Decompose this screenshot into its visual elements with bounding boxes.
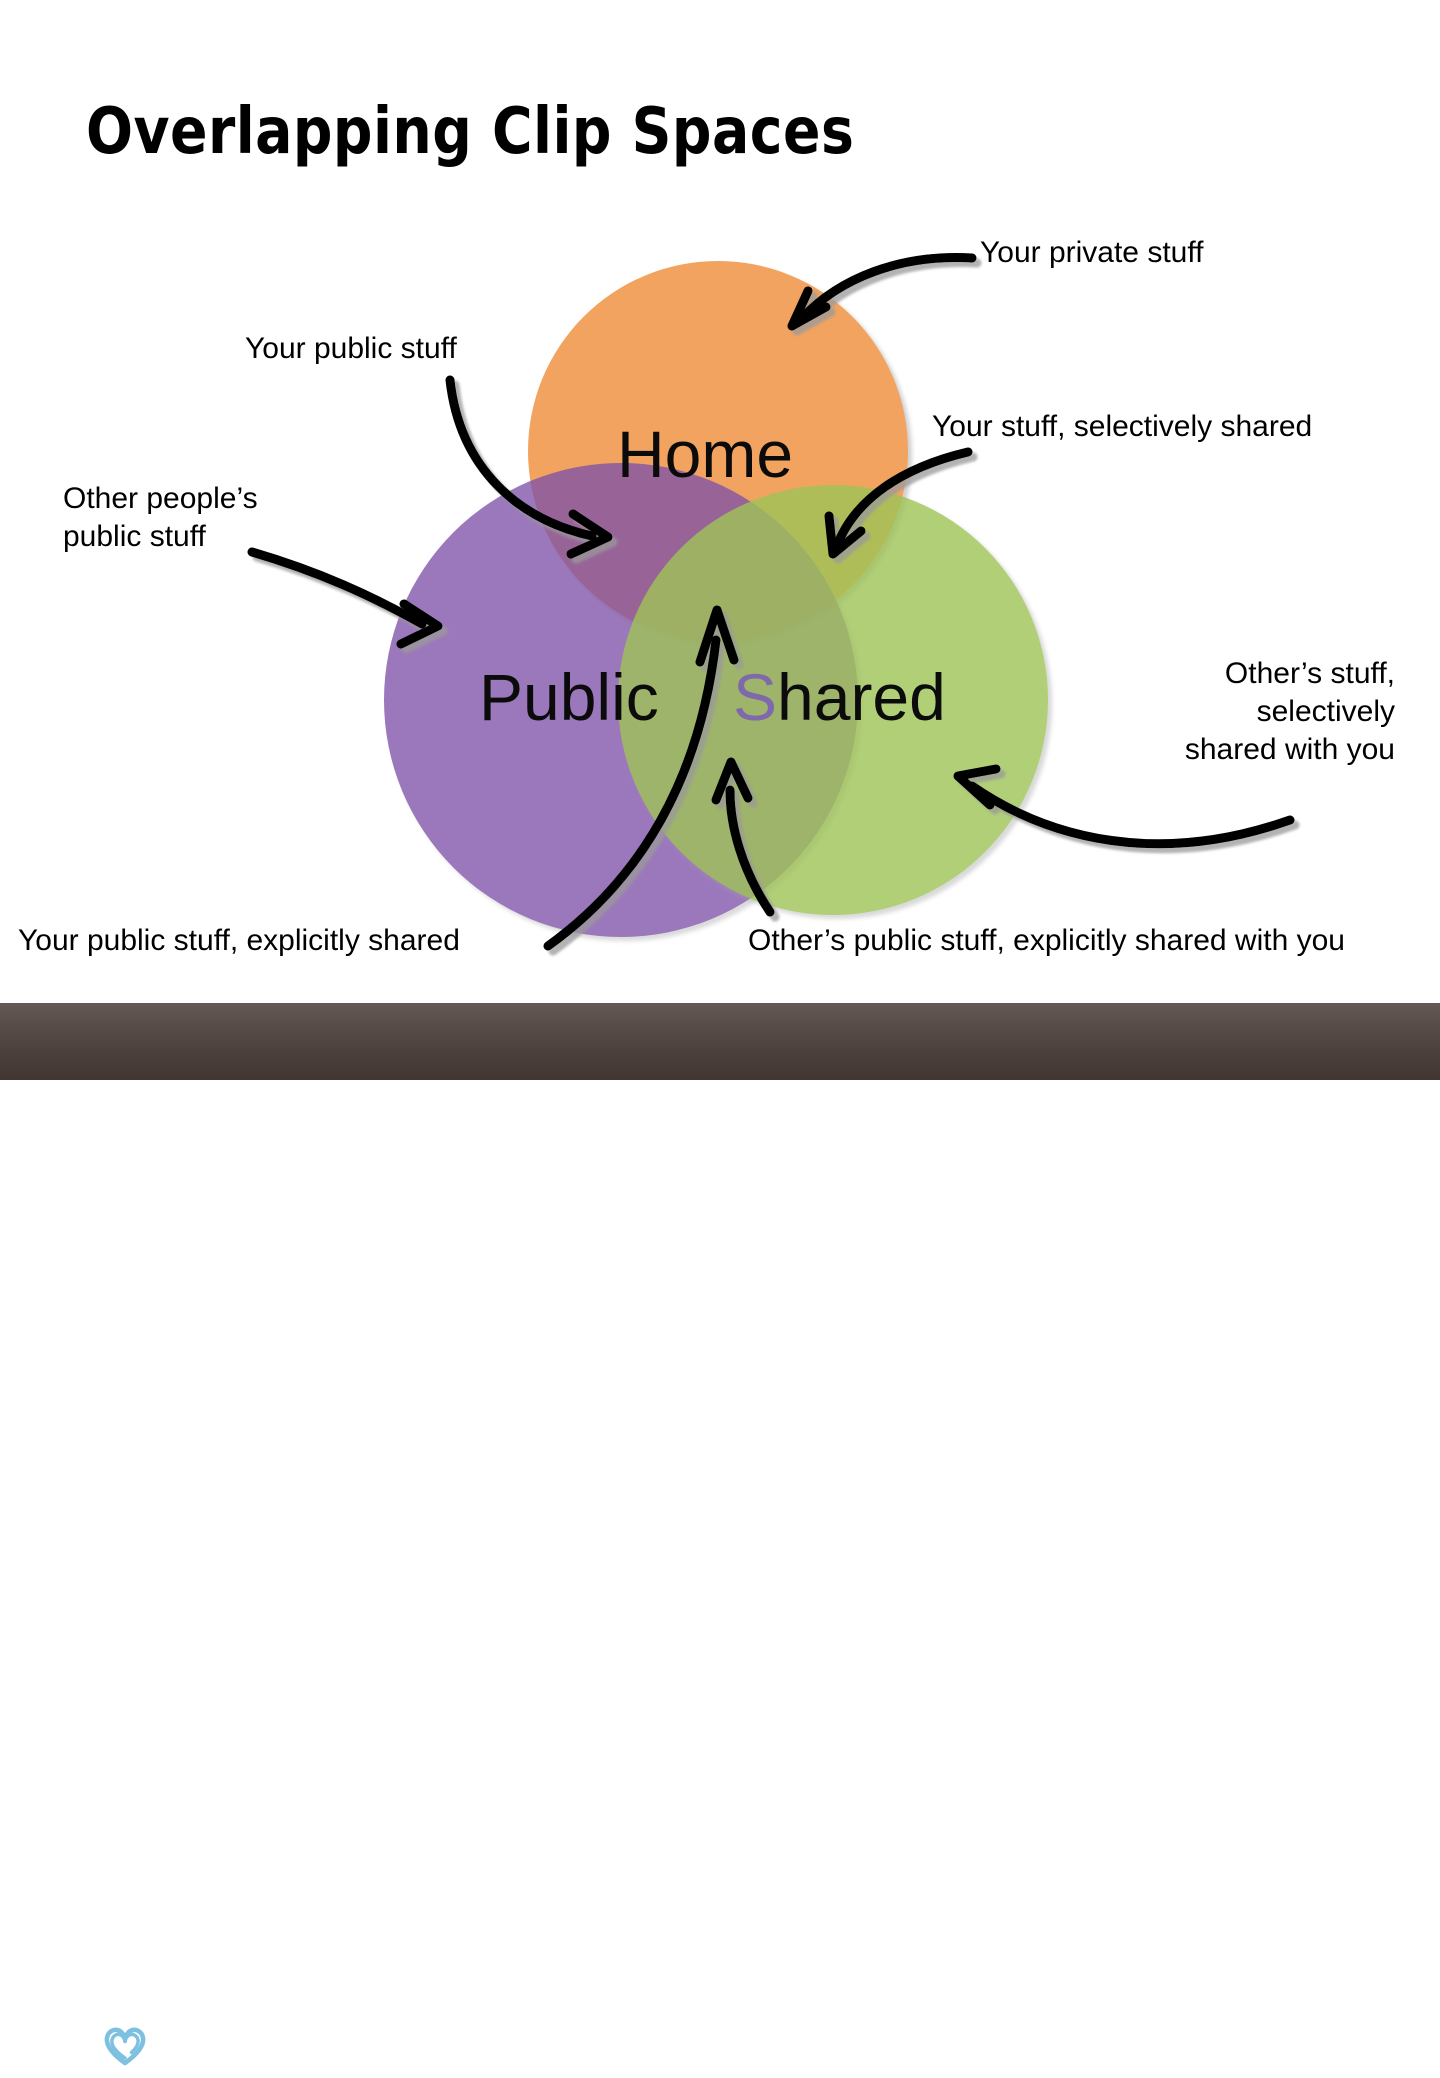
venn-label-public: Public bbox=[479, 664, 659, 730]
callout-your-private-stuff: Your private stuff bbox=[980, 234, 1203, 272]
callout-others-stuff-selectively-shared: Other’s stuff, selectively shared with y… bbox=[1095, 655, 1395, 769]
brand-name-suffix: board bbox=[148, 2018, 288, 2071]
footer-bar: clip board Introduction bbox=[0, 1003, 1440, 1080]
callout-your-stuff-selectively-shared: Your stuff, selectively shared bbox=[932, 408, 1312, 446]
heart-paperclip-icon bbox=[103, 2025, 147, 2067]
callout-your-public-stuff-explicitly-shared: Your public stuff, explicitly shared bbox=[18, 922, 460, 960]
callout-your-public-stuff: Your public stuff bbox=[245, 330, 457, 368]
venn-label-home: Home bbox=[617, 421, 793, 487]
venn-circle-group bbox=[384, 261, 1048, 937]
venn-diagram: Home Public Shared Your private stuff Yo… bbox=[0, 0, 1440, 1003]
callout-others-public-stuff-explicitly-shared: Other’s public stuff, explicitly shared … bbox=[748, 922, 1345, 960]
slide-canvas: Overlapping Clip Spaces bbox=[0, 0, 1440, 1080]
venn-label-shared-rest: hared bbox=[777, 660, 946, 734]
brand-logo[interactable]: clip board bbox=[18, 2015, 288, 2073]
callout-other-peoples-public-stuff: Other people’s public stuff bbox=[63, 480, 313, 556]
footer-section-name: Introduction bbox=[1214, 2018, 1392, 2064]
venn-label-shared: Shared bbox=[733, 664, 946, 730]
venn-label-shared-initial: S bbox=[733, 660, 777, 734]
arrow-other-peoples-public-stuff bbox=[252, 552, 422, 624]
brand-name-prefix: clip bbox=[18, 2018, 102, 2071]
